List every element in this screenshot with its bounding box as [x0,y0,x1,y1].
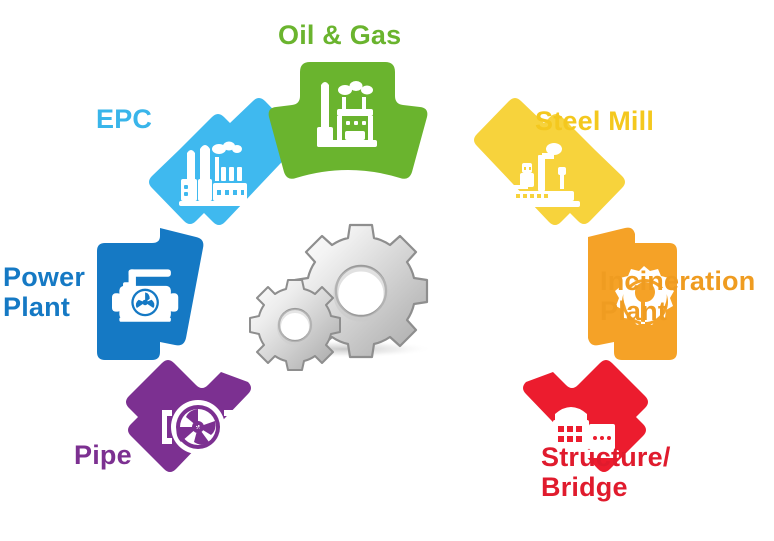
label-incineration-plant: Incineration Plant [600,266,755,326]
label-oil-gas: Oil & Gas [278,20,401,50]
segment-power-plant[interactable] [97,228,203,360]
label-structure-bridge: Structure/ Bridge [541,442,671,502]
segment-pipe[interactable] [126,360,251,472]
label-pipe: Pipe [74,440,132,470]
label-epc: EPC [96,104,152,134]
refinery-factory-icon [317,81,377,147]
diagram-canvas: Oil & Gas EPC Steel Mill Incineration Pl… [0,0,774,541]
label-power-plant: Power Plant [3,262,85,322]
segment-oil-gas[interactable] [269,53,428,179]
gear-small-icon [250,280,340,370]
label-steel-mill: Steel Mill [535,106,654,136]
